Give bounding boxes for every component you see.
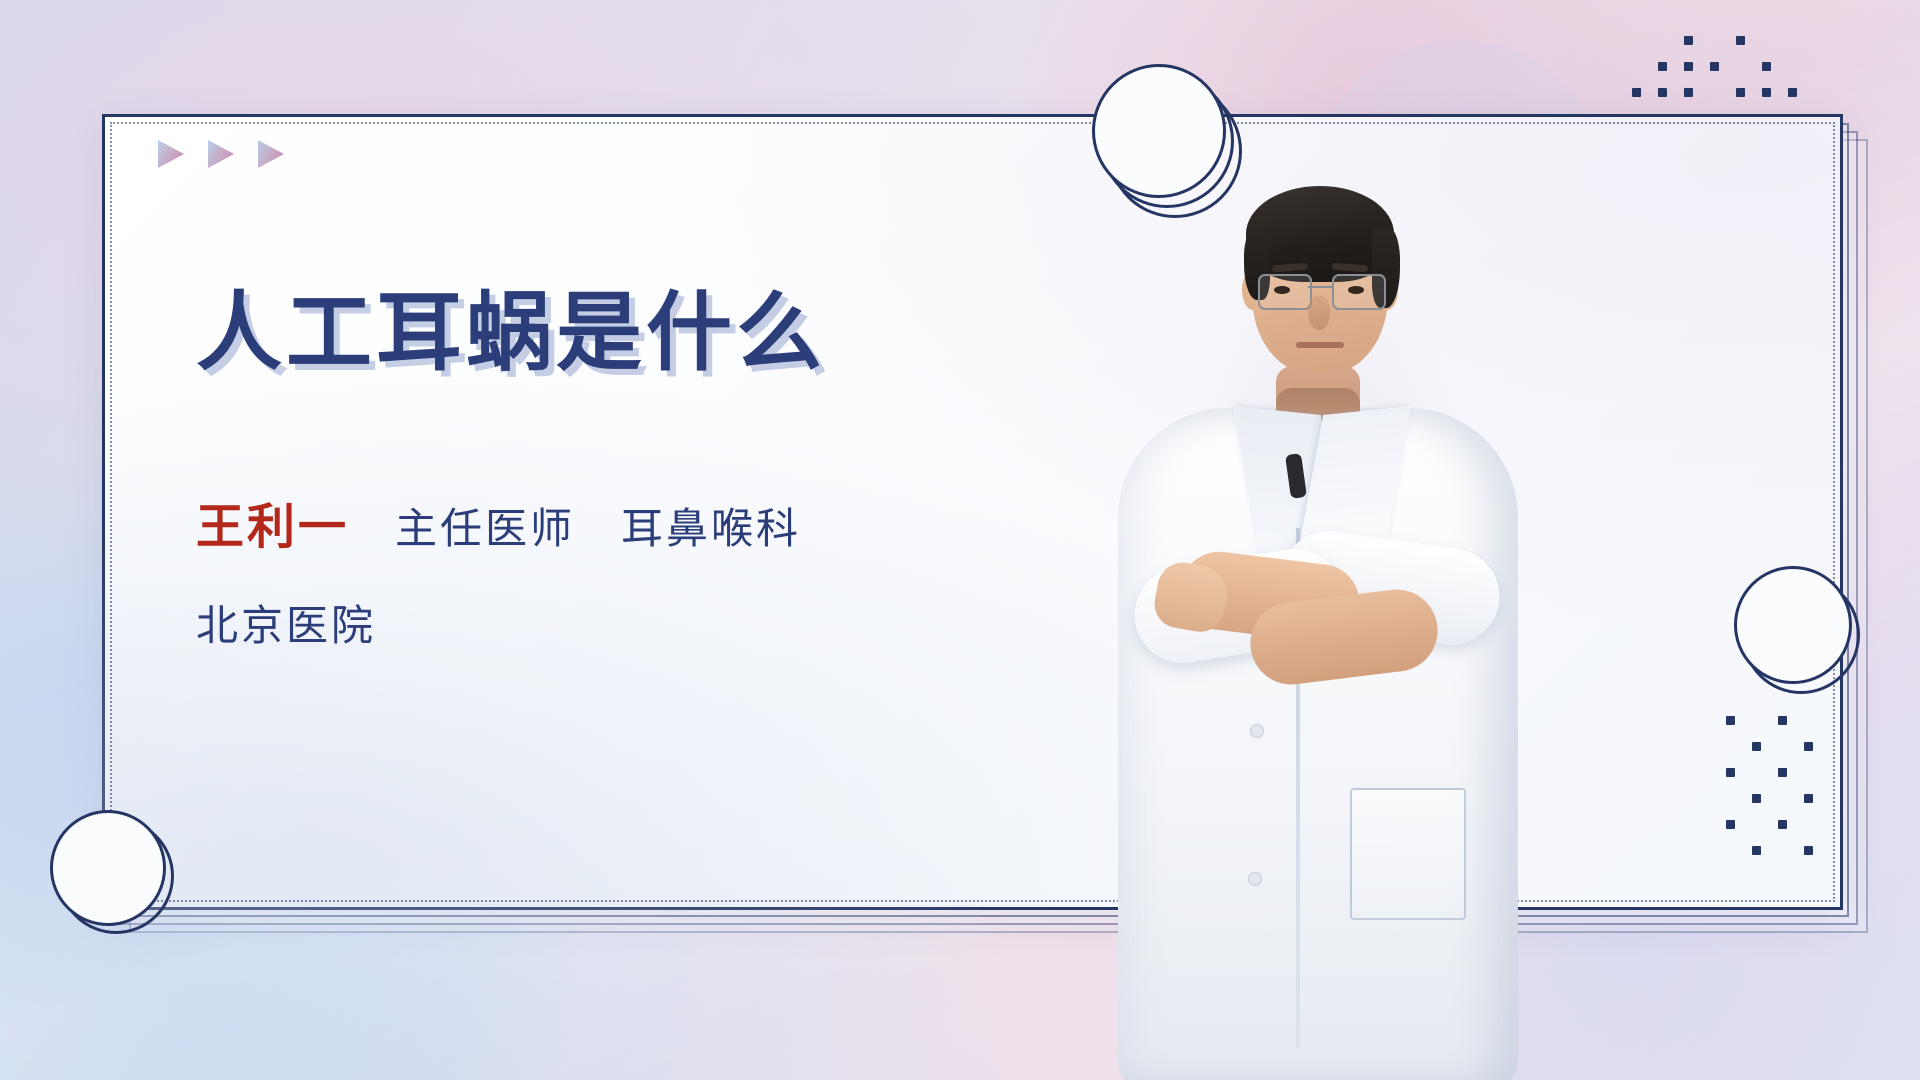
coat-button	[1248, 872, 1262, 886]
play-arrow-icon	[158, 140, 184, 168]
slide-canvas: 人工耳蜗是什么 王利一 主任医师 耳鼻喉科 北京医院	[0, 0, 1920, 1080]
eye-left	[1274, 286, 1290, 294]
eye-right	[1348, 286, 1364, 294]
play-arrow-icon	[208, 140, 234, 168]
circle-left-front	[50, 810, 166, 926]
glasses-bridge	[1308, 286, 1332, 288]
play-arrow-icon	[258, 140, 284, 168]
circle-outline-front	[1092, 64, 1226, 198]
nose	[1308, 296, 1330, 330]
coat-button	[1250, 724, 1264, 738]
dot-grid-bottom-right	[1726, 716, 1830, 872]
doctor-department: 耳鼻喉科	[621, 495, 801, 556]
mouth	[1296, 342, 1344, 348]
doctor-credentials: 王利一 主任医师 耳鼻喉科	[196, 487, 801, 557]
arrow-decoration-group	[158, 140, 284, 168]
doctor-portrait	[1100, 88, 1530, 1080]
doctor-rank: 主任医师	[395, 495, 575, 556]
coat-pocket	[1350, 788, 1466, 920]
doctor-hospital: 北京医院	[196, 592, 376, 653]
doctor-name: 王利一	[196, 487, 349, 557]
page-title: 人工耳蜗是什么	[196, 262, 826, 387]
circle-right-front	[1734, 566, 1852, 684]
